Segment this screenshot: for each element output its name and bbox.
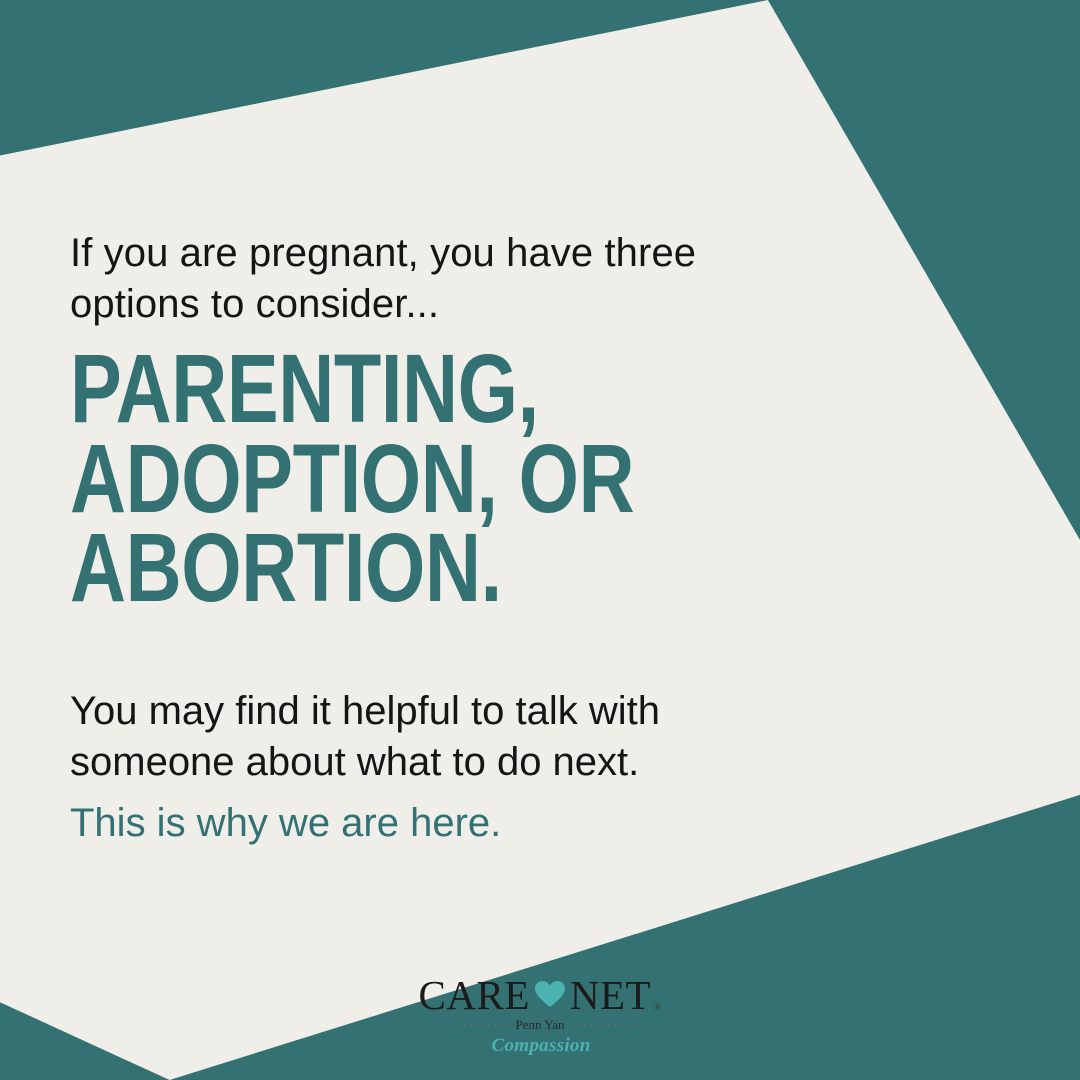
logo-wordmark: CARE NET ®: [419, 975, 662, 1016]
tagline-hope: HOPE: [425, 1035, 476, 1057]
body-text: You may find it helpful to talk with som…: [70, 686, 770, 788]
intro-text: If you are pregnant, you have three opti…: [70, 228, 770, 330]
closing-text: This is why we are here.: [70, 798, 770, 849]
logo-city-row: Penn Yan: [445, 1017, 635, 1033]
heart-icon: [535, 981, 565, 1008]
tagline-separator-right-icon: ◆: [592, 1038, 607, 1051]
registered-trademark-icon: ®: [653, 1002, 661, 1013]
tagline-separator-left-icon: ◆: [476, 1038, 491, 1051]
dotted-rule-right: [571, 1025, 635, 1026]
carenet-logo: CARE NET ® Penn Yan HOPE ◆ Compassion ◆ …: [0, 975, 1080, 1057]
logo-net-text: NET: [570, 975, 651, 1016]
logo-city-text: Penn Yan: [509, 1017, 570, 1033]
logo-care-text: CARE: [419, 975, 530, 1016]
tagline-compassion: Compassion: [491, 1035, 592, 1057]
headline-text: PARENTING, ADOPTION, OR ABORTION.: [70, 344, 646, 613]
tagline-help: HELP: [606, 1035, 655, 1057]
logo-tagline: HOPE ◆ Compassion ◆ HELP: [425, 1035, 655, 1057]
dotted-rule-left: [445, 1025, 509, 1026]
social-graphic-poster: If you are pregnant, you have three opti…: [0, 0, 1080, 1080]
